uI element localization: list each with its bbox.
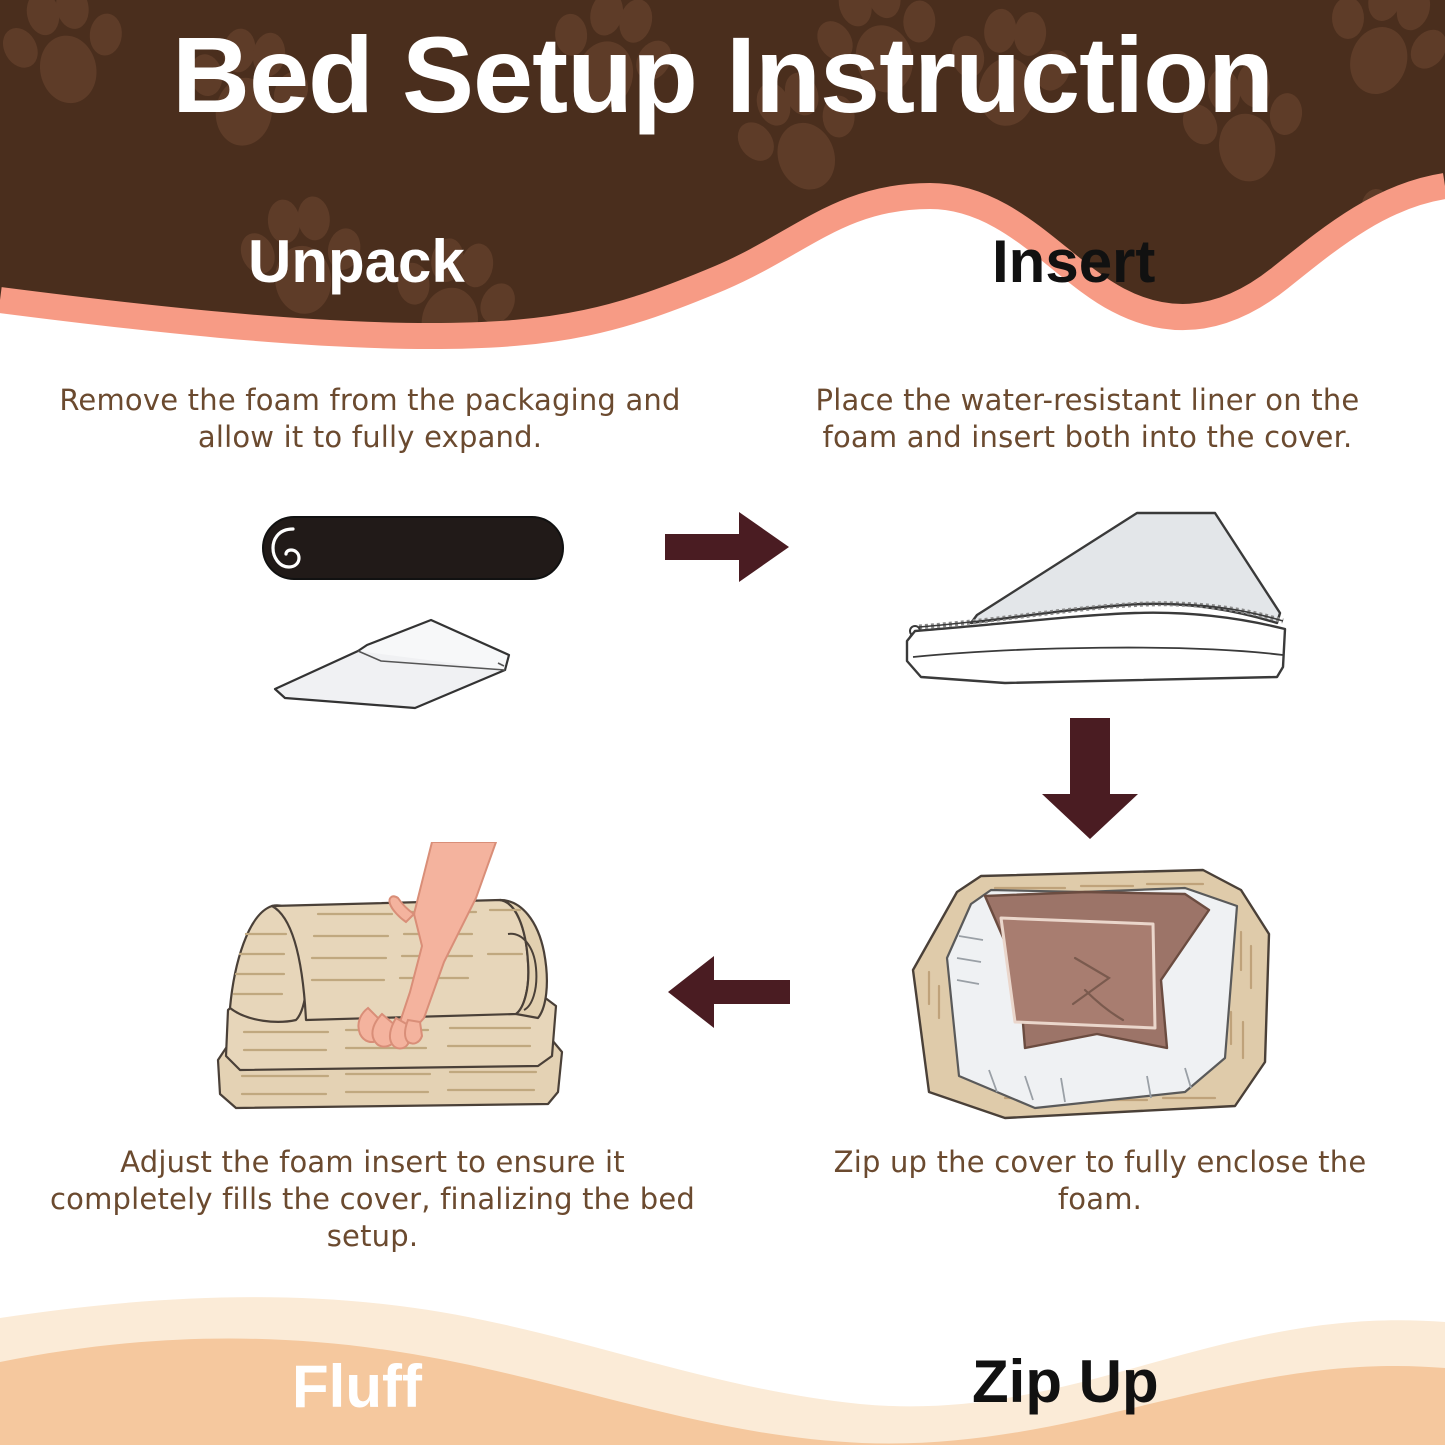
illustration-hand-pressing-bed [200, 842, 620, 1134]
caption-fluff: Adjust the foam insert to ensure it comp… [50, 1144, 695, 1255]
caption-zip-up: Zip up the cover to fully enclose the fo… [790, 1144, 1410, 1218]
instruction-poster: Bed Setup Instruction Unpack Insert Fluf… [0, 0, 1445, 1445]
rolled-foam-icon [263, 517, 563, 579]
footer-cream-wave [0, 1297, 1445, 1445]
caption-unpack: Remove the foam from the packaging and a… [50, 382, 690, 456]
arrow-down-icon [1040, 718, 1140, 845]
illustration-rolled-foam-and-folded-cover [255, 495, 585, 710]
page-title: Bed Setup Instruction [0, 18, 1445, 131]
caption-insert: Place the water-resistant liner on the f… [775, 382, 1400, 456]
salmon-wave-divider [0, 186, 1445, 336]
arrow-right-icon [665, 508, 790, 591]
open-bed-icon [913, 870, 1269, 1118]
step-heading-fluff: Fluff [292, 1357, 422, 1417]
step-heading-insert: Insert [992, 232, 1155, 292]
arrow-left-icon [668, 952, 790, 1037]
illustration-zippered-mattress-cover [885, 495, 1305, 695]
bolster-bed-icon [218, 842, 562, 1108]
footer-peach-wave [0, 1339, 1445, 1445]
step-heading-zip-up: Zip Up [972, 1352, 1159, 1412]
step-heading-unpack: Unpack [248, 232, 465, 292]
illustration-open-bed-with-foam [885, 862, 1285, 1124]
folded-cover-icon [275, 620, 509, 708]
mattress-cover-icon [907, 513, 1285, 683]
